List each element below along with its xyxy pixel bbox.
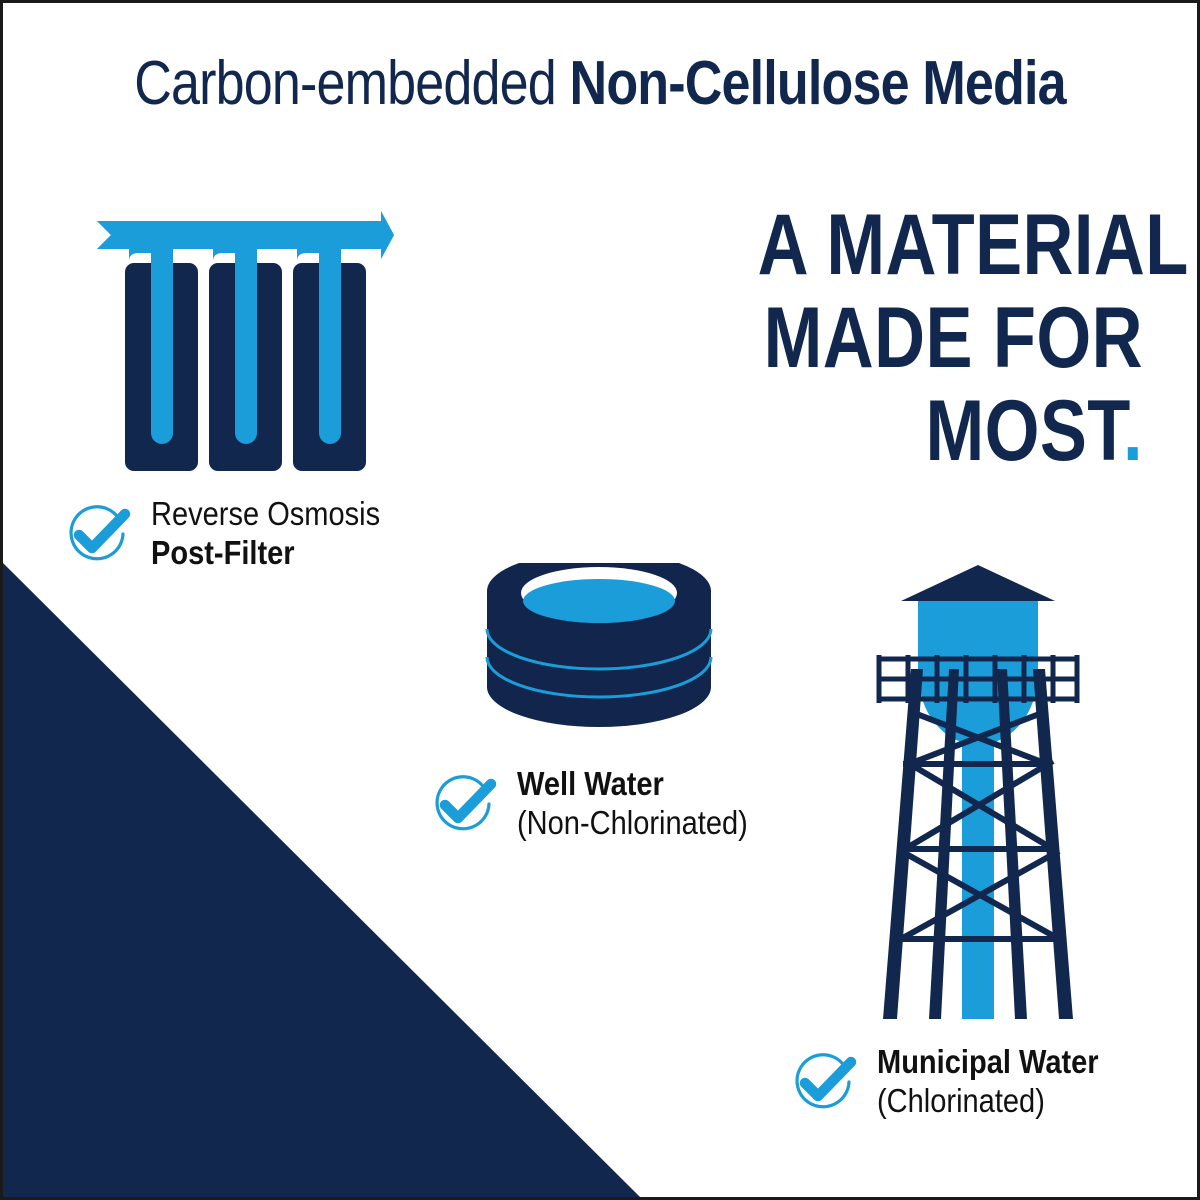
page-title: Carbon-embedded Non-Cellulose Media — [99, 51, 1102, 116]
water-tower-icon — [863, 559, 1093, 1029]
title-bold-part: Non-Cellulose Media — [570, 49, 1066, 118]
label-main: Well Water — [517, 765, 748, 804]
label-reverse-osmosis: Reverse Osmosis Post-Filter — [61, 495, 411, 573]
check-circle-icon — [787, 1045, 861, 1119]
label-sub: (Chlorinated) — [877, 1082, 1099, 1121]
headline-line-3: MOST. — [758, 385, 1143, 478]
label-text-reverse-osmosis: Reverse Osmosis Post-Filter — [151, 495, 380, 573]
label-main: Reverse Osmosis — [151, 495, 380, 534]
well-cylinder-icon — [483, 563, 715, 728]
filter-canisters-icon — [89, 203, 399, 488]
headline-period: . — [1123, 383, 1143, 479]
label-municipal-water: Municipal Water (Chlorinated) — [787, 1043, 1129, 1121]
check-circle-icon — [61, 497, 135, 571]
label-well-water: Well Water (Non-Chlorinated) — [427, 765, 779, 843]
label-main: Municipal Water — [877, 1043, 1099, 1082]
headline-line-3-word: MOST — [925, 383, 1123, 479]
label-text-municipal-water: Municipal Water (Chlorinated) — [877, 1043, 1099, 1121]
infographic-poster: Carbon-embedded Non-Cellulose Media A MA… — [0, 0, 1200, 1200]
headline: A MATERIAL MADE FOR MOST. — [758, 199, 1143, 478]
label-sub: Post-Filter — [151, 534, 380, 573]
headline-line-1: A MATERIAL — [758, 199, 1143, 292]
label-text-well-water: Well Water (Non-Chlorinated) — [517, 765, 748, 843]
check-circle-icon — [427, 767, 501, 841]
title-light-part: Carbon-embedded — [134, 49, 569, 118]
label-sub: (Non-Chlorinated) — [517, 804, 748, 843]
headline-line-2: MADE FOR — [758, 292, 1143, 385]
